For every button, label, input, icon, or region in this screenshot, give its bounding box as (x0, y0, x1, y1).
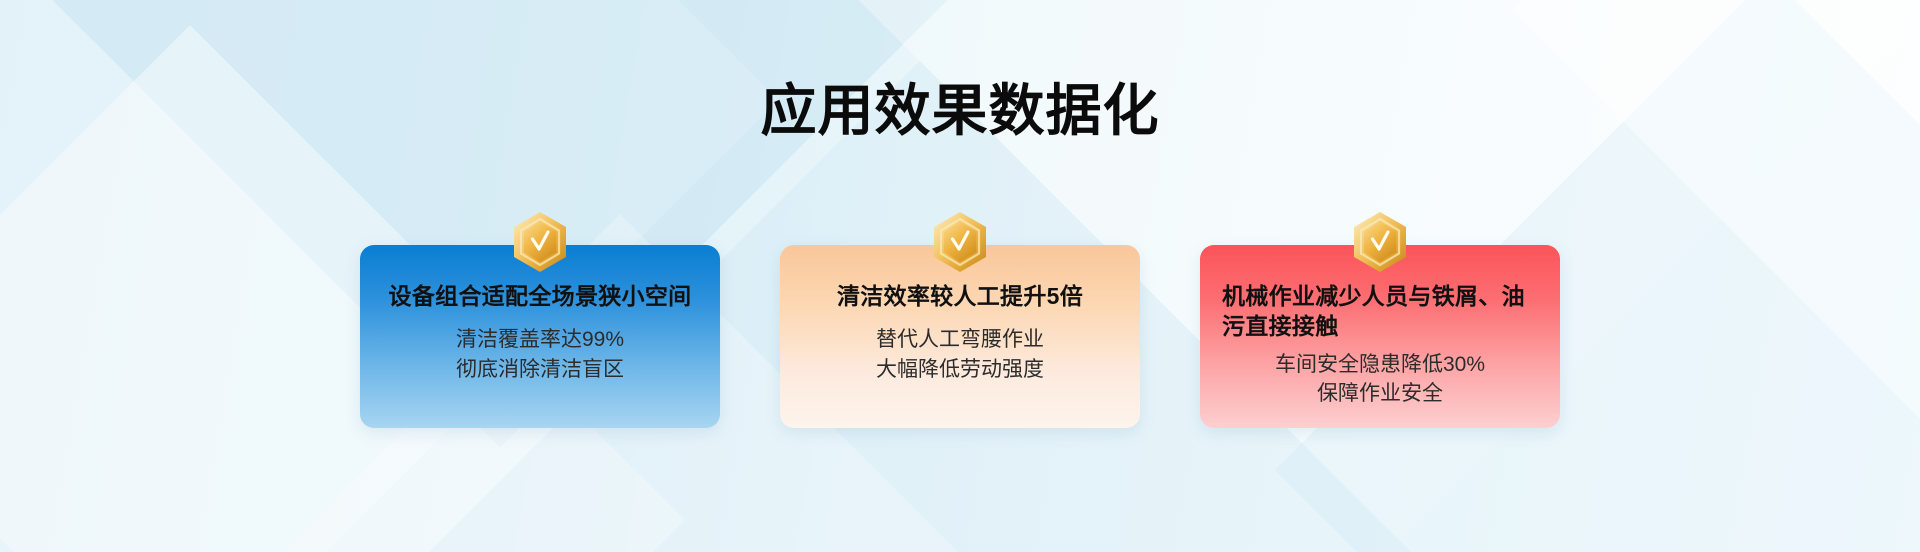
card-subtitle-line: 彻底消除清洁盲区 (456, 355, 624, 384)
hexagon-check-badge-icon (932, 211, 988, 273)
card-subtitle: 替代人工弯腰作业 大幅降低劳动强度 (876, 325, 1044, 384)
card-subtitle-line: 清洁覆盖率达99% (456, 325, 624, 354)
metric-card-device-combination[interactable]: 设备组合适配全场景狭小空间 清洁覆盖率达99% 彻底消除清洁盲区 (360, 245, 720, 428)
card-title: 设备组合适配全场景狭小空间 (389, 281, 692, 311)
metric-card-worker-safety[interactable]: 机械作业减少人员与铁屑、油污直接接触 车间安全隐患降低30% 保障作业安全 (1200, 245, 1560, 428)
card-subtitle-line: 替代人工弯腰作业 (876, 325, 1044, 354)
background-facet-7 (1512, 0, 1920, 448)
hexagon-check-badge-icon (512, 211, 568, 273)
card-subtitle-line: 大幅降低劳动强度 (876, 355, 1044, 384)
card-title: 机械作业减少人员与铁屑、油污直接接触 (1216, 281, 1544, 342)
card-subtitle-line: 保障作业安全 (1275, 379, 1485, 408)
card-subtitle: 车间安全隐患降低30% 保障作业安全 (1275, 350, 1485, 409)
card-title: 清洁效率较人工提升5倍 (837, 281, 1083, 311)
metric-card-row: 设备组合适配全场景狭小空间 清洁覆盖率达99% 彻底消除清洁盲区 (360, 245, 1560, 430)
infographic-canvas: 应用效果数据化 (0, 0, 1920, 552)
metric-card-cleaning-efficiency[interactable]: 清洁效率较人工提升5倍 替代人工弯腰作业 大幅降低劳动强度 (780, 245, 1140, 428)
card-subtitle-line: 车间安全隐患降低30% (1275, 350, 1485, 379)
page-title: 应用效果数据化 (0, 78, 1920, 144)
hexagon-check-badge-icon (1352, 211, 1408, 273)
card-subtitle: 清洁覆盖率达99% 彻底消除清洁盲区 (456, 325, 624, 384)
